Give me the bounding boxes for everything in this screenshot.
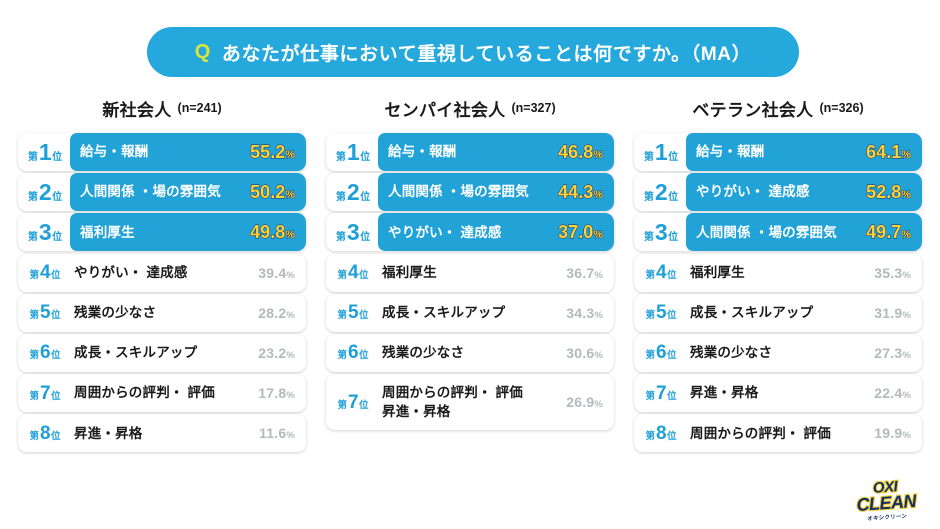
percentage-value: 36.7%: [566, 265, 603, 281]
item-label: 給与・報酬: [378, 142, 558, 162]
rank-suffix: 位: [359, 271, 369, 281]
percentage-number: 46.8: [558, 142, 593, 162]
percentage-number: 39.4: [258, 265, 286, 281]
percentage-value: 55.2%: [250, 142, 295, 163]
ranking-row: 第2位人間関係 ・場の雰囲気44.3%: [326, 173, 614, 211]
item-label-line: 昇進・昇格: [382, 402, 566, 422]
ranking-row: 第7位周囲からの評判・ 評価17.8%: [18, 374, 306, 412]
rank-badge: 第5位: [634, 303, 686, 322]
percentage-value: 50.2%: [250, 182, 295, 203]
item-label-line: 福利厚生: [382, 263, 566, 283]
percentage-number: 26.9: [566, 394, 594, 410]
logo-line-2: CLEAN: [856, 491, 917, 513]
rank-suffix: 位: [51, 351, 61, 361]
question-text: あなたが仕事において重視していることは何ですか。（MA）: [222, 39, 751, 66]
percent-symbol: %: [285, 229, 295, 241]
rank-suffix: 位: [51, 392, 61, 402]
rank-prefix: 第: [29, 271, 39, 281]
item-label: やりがい・ 達成感: [70, 263, 258, 283]
row-body: 周囲からの評判・ 評価昇進・昇格26.9%: [378, 374, 614, 430]
rank-number: 2: [39, 181, 51, 204]
percentage-value: 22.4%: [874, 385, 911, 401]
percent-symbol: %: [593, 149, 603, 161]
item-label: 昇進・昇格: [70, 424, 259, 444]
percentage-number: 37.0: [558, 222, 593, 242]
ranking-row: 第1位給与・報酬64.1%: [634, 133, 922, 171]
rank-suffix: 位: [668, 153, 678, 163]
infographic-root: Q あなたが仕事において重視していることは何ですか。（MA） 新社会人(n=24…: [0, 0, 940, 529]
rank-prefix: 第: [645, 271, 655, 281]
percentage-value: 37.0%: [558, 222, 603, 243]
item-label: 残業の少なさ: [70, 303, 258, 323]
ranking-row: 第4位やりがい・ 達成感39.4%: [18, 254, 306, 292]
percentage-value: 35.3%: [874, 265, 911, 281]
percentage-value: 19.9%: [874, 425, 911, 441]
row-body: 給与・報酬46.8%: [378, 133, 614, 171]
rank-number: 5: [40, 303, 50, 322]
ranking-row: 第8位周囲からの評判・ 評価19.9%: [634, 414, 922, 452]
rank-badge: 第4位: [18, 263, 70, 282]
rank-suffix: 位: [51, 311, 61, 321]
row-body: 成長・スキルアップ34.3%: [378, 294, 614, 332]
ranking-column: ベテラン社会人(n=326)第1位給与・報酬64.1%第2位やりがい・ 達成感5…: [634, 92, 922, 455]
rank-prefix: 第: [336, 193, 346, 203]
percentage-value: 23.2%: [258, 345, 295, 361]
rank-badge: 第2位: [18, 181, 70, 204]
rank-badge: 第1位: [18, 141, 70, 164]
item-label: 福利厚生: [378, 263, 566, 283]
rank-number: 4: [656, 263, 666, 282]
percentage-number: 34.3: [566, 305, 594, 321]
percentage-value: 34.3%: [566, 305, 603, 321]
item-label-line: 人間関係 ・場の雰囲気: [696, 223, 866, 243]
rank-badge: 第6位: [634, 343, 686, 362]
item-label-line: 成長・スキルアップ: [382, 303, 566, 323]
rank-badge: 第5位: [18, 303, 70, 322]
rank-prefix: 第: [644, 233, 654, 243]
column-title: ベテラン社会人: [692, 96, 813, 121]
rank-prefix: 第: [336, 153, 346, 163]
percentage-number: 19.9: [874, 425, 902, 441]
row-body: やりがい・ 達成感52.8%: [686, 173, 922, 211]
rank-prefix: 第: [29, 311, 39, 321]
rank-prefix: 第: [29, 351, 39, 361]
rank-number: 3: [347, 221, 359, 244]
row-body: やりがい・ 達成感39.4%: [70, 254, 306, 292]
rank-suffix: 位: [359, 351, 369, 361]
percentage-value: 11.6%: [259, 425, 295, 441]
percentage-value: 17.8%: [258, 385, 295, 401]
item-label: 周囲からの評判・ 評価: [686, 424, 874, 444]
row-body: 昇進・昇格22.4%: [686, 374, 922, 412]
percentage-value: 31.9%: [874, 305, 911, 321]
ranking-row: 第1位給与・報酬55.2%: [18, 133, 306, 171]
rank-suffix: 位: [360, 233, 370, 243]
row-body: 人間関係 ・場の雰囲気49.7%: [686, 213, 922, 251]
percentage-number: 17.8: [258, 385, 286, 401]
percentage-number: 23.2: [258, 345, 286, 361]
percentage-number: 35.3: [874, 265, 902, 281]
percent-symbol: %: [593, 189, 603, 201]
percent-symbol: %: [901, 229, 911, 241]
percentage-number: 30.6: [566, 345, 594, 361]
percent-symbol: %: [285, 189, 295, 201]
row-body: やりがい・ 達成感37.0%: [378, 213, 614, 251]
percentage-number: 64.1: [866, 142, 901, 162]
ranking-row: 第3位人間関係 ・場の雰囲気49.7%: [634, 213, 922, 251]
item-label-line: 周囲からの評判・ 評価: [690, 424, 874, 444]
item-label: 福利厚生: [70, 223, 250, 243]
column-header: センパイ社会人(n=327): [326, 92, 614, 124]
rank-prefix: 第: [336, 233, 346, 243]
percent-symbol: %: [285, 149, 295, 161]
item-label: 人間関係 ・場の雰囲気: [70, 182, 250, 202]
percentage-number: 55.2: [250, 142, 285, 162]
percentage-value: 39.4%: [258, 265, 295, 281]
rank-badge: 第6位: [326, 343, 378, 362]
rank-number: 2: [347, 181, 359, 204]
percentage-value: 46.8%: [558, 142, 603, 163]
item-label: 人間関係 ・場の雰囲気: [378, 182, 558, 202]
ranking-row: 第3位やりがい・ 達成感37.0%: [326, 213, 614, 251]
rank-number: 8: [656, 424, 666, 443]
item-label-line: 人間関係 ・場の雰囲気: [80, 182, 250, 202]
rank-suffix: 位: [359, 311, 369, 321]
logo-line-3: オキシクリーン: [867, 511, 907, 522]
q-letter-icon: Q: [195, 42, 211, 62]
percent-symbol: %: [286, 270, 295, 281]
ranking-columns: 新社会人(n=241)第1位給与・報酬55.2%第2位人間関係 ・場の雰囲気50…: [0, 92, 940, 455]
rank-number: 3: [655, 221, 667, 244]
item-label-line: 給与・報酬: [696, 142, 866, 162]
percentage-value: 49.7%: [866, 222, 911, 243]
percentage-number: 28.2: [258, 305, 286, 321]
rank-badge: 第8位: [634, 424, 686, 443]
percent-symbol: %: [594, 270, 603, 281]
percent-symbol: %: [902, 310, 911, 321]
percent-symbol: %: [901, 149, 911, 161]
rank-badge: 第3位: [634, 221, 686, 244]
row-body: 周囲からの評判・ 評価17.8%: [70, 374, 306, 412]
row-body: 残業の少なさ28.2%: [70, 294, 306, 332]
rank-prefix: 第: [28, 153, 38, 163]
row-body: 人間関係 ・場の雰囲気50.2%: [70, 173, 306, 211]
percentage-number: 49.7: [866, 222, 901, 242]
column-header: ベテラン社会人(n=326): [634, 92, 922, 124]
item-label-line: 成長・スキルアップ: [690, 303, 874, 323]
item-label: やりがい・ 達成感: [686, 182, 866, 202]
percentage-number: 11.6: [259, 425, 286, 441]
rank-badge: 第6位: [18, 343, 70, 362]
column-sample-size: (n=327): [511, 101, 555, 115]
percentage-value: 44.3%: [558, 182, 603, 203]
percentage-value: 52.8%: [866, 182, 911, 203]
rank-prefix: 第: [337, 311, 347, 321]
item-label-line: 周囲からの評判・ 評価: [74, 383, 258, 403]
percent-symbol: %: [286, 350, 295, 361]
rank-suffix: 位: [668, 233, 678, 243]
rank-prefix: 第: [29, 392, 39, 402]
ranking-row: 第2位人間関係 ・場の雰囲気50.2%: [18, 173, 306, 211]
row-body: 残業の少なさ30.6%: [378, 334, 614, 372]
rank-number: 4: [348, 263, 358, 282]
rank-number: 4: [40, 263, 50, 282]
item-label-line: 残業の少なさ: [74, 303, 258, 323]
rank-suffix: 位: [51, 432, 61, 442]
column-sample-size: (n=326): [819, 101, 863, 115]
percentage-number: 22.4: [874, 385, 902, 401]
row-body: 成長・スキルアップ31.9%: [686, 294, 922, 332]
row-body: 福利厚生49.8%: [70, 213, 306, 251]
percent-symbol: %: [594, 310, 603, 321]
item-label: 昇進・昇格: [686, 383, 874, 403]
ranking-row: 第4位福利厚生36.7%: [326, 254, 614, 292]
rank-prefix: 第: [337, 351, 347, 361]
rank-number: 7: [348, 393, 358, 412]
rank-number: 6: [656, 343, 666, 362]
rank-badge: 第1位: [326, 141, 378, 164]
item-label: 成長・スキルアップ: [70, 343, 258, 363]
column-sample-size: (n=241): [178, 101, 222, 115]
percent-symbol: %: [593, 229, 603, 241]
ranking-row: 第4位福利厚生35.3%: [634, 254, 922, 292]
row-body: 給与・報酬55.2%: [70, 133, 306, 171]
percentage-value: 64.1%: [866, 142, 911, 163]
percent-symbol: %: [901, 189, 911, 201]
rank-number: 1: [655, 141, 667, 164]
percentage-value: 28.2%: [258, 305, 295, 321]
rank-number: 6: [348, 343, 358, 362]
rank-badge: 第4位: [326, 263, 378, 282]
item-label-line: 残業の少なさ: [382, 343, 566, 363]
item-label: 成長・スキルアップ: [686, 303, 874, 323]
rank-number: 2: [655, 181, 667, 204]
rank-suffix: 位: [667, 392, 677, 402]
rank-suffix: 位: [52, 193, 62, 203]
percentage-number: 52.8: [866, 182, 901, 202]
ranking-row: 第5位成長・スキルアップ31.9%: [634, 294, 922, 332]
ranking-column: センパイ社会人(n=327)第1位給与・報酬46.8%第2位人間関係 ・場の雰囲…: [326, 92, 614, 455]
percent-symbol: %: [902, 350, 911, 361]
percent-symbol: %: [286, 430, 295, 441]
rank-badge: 第2位: [634, 181, 686, 204]
percent-symbol: %: [286, 390, 295, 401]
item-label: 福利厚生: [686, 263, 874, 283]
percentage-number: 49.8: [250, 222, 285, 242]
percentage-value: 27.3%: [874, 345, 911, 361]
rank-badge: 第3位: [18, 221, 70, 244]
rank-number: 1: [347, 141, 359, 164]
percent-symbol: %: [902, 270, 911, 281]
item-label: 給与・報酬: [70, 142, 250, 162]
item-label: 成長・スキルアップ: [378, 303, 566, 323]
percentage-number: 50.2: [250, 182, 285, 202]
column-title: センパイ社会人: [384, 96, 505, 121]
row-body: 周囲からの評判・ 評価19.9%: [686, 414, 922, 452]
row-body: 福利厚生36.7%: [378, 254, 614, 292]
rank-prefix: 第: [645, 432, 655, 442]
percent-symbol: %: [594, 350, 603, 361]
item-label: 残業の少なさ: [686, 343, 874, 363]
item-label-line: 給与・報酬: [388, 142, 558, 162]
ranking-row: 第7位周囲からの評判・ 評価昇進・昇格26.9%: [326, 374, 614, 430]
item-label-line: やりがい・ 達成感: [388, 223, 558, 243]
percent-symbol: %: [902, 430, 911, 441]
rank-prefix: 第: [644, 153, 654, 163]
ranking-row: 第2位やりがい・ 達成感52.8%: [634, 173, 922, 211]
ranking-row: 第3位福利厚生49.8%: [18, 213, 306, 251]
item-label-line: やりがい・ 達成感: [74, 263, 258, 283]
rank-badge: 第8位: [18, 424, 70, 443]
rank-number: 7: [656, 384, 666, 403]
oxiclean-logo: OXI CLEAN オキシクリーン: [843, 476, 930, 524]
item-label-line: 給与・報酬: [80, 142, 250, 162]
rank-prefix: 第: [644, 193, 654, 203]
rank-prefix: 第: [645, 392, 655, 402]
rank-suffix: 位: [360, 193, 370, 203]
rank-badge: 第2位: [326, 181, 378, 204]
rank-suffix: 位: [668, 193, 678, 203]
item-label: 人間関係 ・場の雰囲気: [686, 223, 866, 243]
rank-number: 5: [348, 303, 358, 322]
rank-number: 6: [40, 343, 50, 362]
item-label-line: 成長・スキルアップ: [74, 343, 258, 363]
ranking-row: 第5位成長・スキルアップ34.3%: [326, 294, 614, 332]
rank-prefix: 第: [28, 233, 38, 243]
rank-badge: 第7位: [18, 384, 70, 403]
row-body: 人間関係 ・場の雰囲気44.3%: [378, 173, 614, 211]
item-label-line: やりがい・ 達成感: [696, 182, 866, 202]
rank-number: 7: [40, 384, 50, 403]
rank-prefix: 第: [337, 271, 347, 281]
item-label-line: 残業の少なさ: [690, 343, 874, 363]
rank-prefix: 第: [337, 401, 347, 411]
percent-symbol: %: [594, 399, 603, 410]
row-body: 成長・スキルアップ23.2%: [70, 334, 306, 372]
rank-suffix: 位: [667, 311, 677, 321]
percentage-number: 44.3: [558, 182, 593, 202]
rank-number: 1: [39, 141, 51, 164]
percent-symbol: %: [902, 390, 911, 401]
percentage-value: 30.6%: [566, 345, 603, 361]
rank-badge: 第7位: [634, 384, 686, 403]
rank-suffix: 位: [51, 271, 61, 281]
ranking-row: 第6位残業の少なさ30.6%: [326, 334, 614, 372]
rank-prefix: 第: [645, 311, 655, 321]
rank-badge: 第5位: [326, 303, 378, 322]
percentage-value: 49.8%: [250, 222, 295, 243]
rank-suffix: 位: [52, 153, 62, 163]
column-header: 新社会人(n=241): [18, 92, 306, 124]
rank-number: 5: [656, 303, 666, 322]
row-body: 給与・報酬64.1%: [686, 133, 922, 171]
ranking-row: 第1位給与・報酬46.8%: [326, 133, 614, 171]
row-body: 昇進・昇格11.6%: [70, 414, 306, 452]
question-banner: Q あなたが仕事において重視していることは何ですか。（MA）: [147, 27, 799, 77]
ranking-row: 第7位昇進・昇格22.4%: [634, 374, 922, 412]
item-label: 給与・報酬: [686, 142, 866, 162]
item-label: 周囲からの評判・ 評価: [70, 383, 258, 403]
item-label-line: 福利厚生: [80, 223, 250, 243]
percentage-number: 36.7: [566, 265, 594, 281]
rank-suffix: 位: [667, 432, 677, 442]
rank-prefix: 第: [29, 432, 39, 442]
item-label: 残業の少なさ: [378, 343, 566, 363]
rank-badge: 第7位: [326, 393, 378, 412]
percentage-number: 31.9: [874, 305, 902, 321]
rank-badge: 第4位: [634, 263, 686, 282]
item-label-line: 昇進・昇格: [690, 383, 874, 403]
rank-badge: 第3位: [326, 221, 378, 244]
row-body: 残業の少なさ27.3%: [686, 334, 922, 372]
column-title: 新社会人: [102, 96, 171, 121]
row-body: 福利厚生35.3%: [686, 254, 922, 292]
rank-number: 8: [40, 424, 50, 443]
percentage-number: 27.3: [874, 345, 902, 361]
rank-suffix: 位: [359, 401, 369, 411]
rank-suffix: 位: [52, 233, 62, 243]
ranking-row: 第5位残業の少なさ28.2%: [18, 294, 306, 332]
item-label: やりがい・ 達成感: [378, 223, 558, 243]
rank-suffix: 位: [667, 271, 677, 281]
item-label-line: 福利厚生: [690, 263, 874, 283]
ranking-row: 第8位昇進・昇格11.6%: [18, 414, 306, 452]
rank-suffix: 位: [360, 153, 370, 163]
rank-prefix: 第: [645, 351, 655, 361]
item-label: 周囲からの評判・ 評価昇進・昇格: [378, 383, 566, 422]
rank-badge: 第1位: [634, 141, 686, 164]
percentage-value: 26.9%: [566, 394, 603, 410]
rank-prefix: 第: [28, 193, 38, 203]
ranking-row: 第6位成長・スキルアップ23.2%: [18, 334, 306, 372]
item-label-line: 昇進・昇格: [74, 424, 259, 444]
ranking-row: 第6位残業の少なさ27.3%: [634, 334, 922, 372]
ranking-column: 新社会人(n=241)第1位給与・報酬55.2%第2位人間関係 ・場の雰囲気50…: [18, 92, 306, 455]
item-label-line: 人間関係 ・場の雰囲気: [388, 182, 558, 202]
percent-symbol: %: [286, 310, 295, 321]
item-label-line: 周囲からの評判・ 評価: [382, 383, 566, 403]
rank-number: 3: [39, 221, 51, 244]
rank-suffix: 位: [667, 351, 677, 361]
